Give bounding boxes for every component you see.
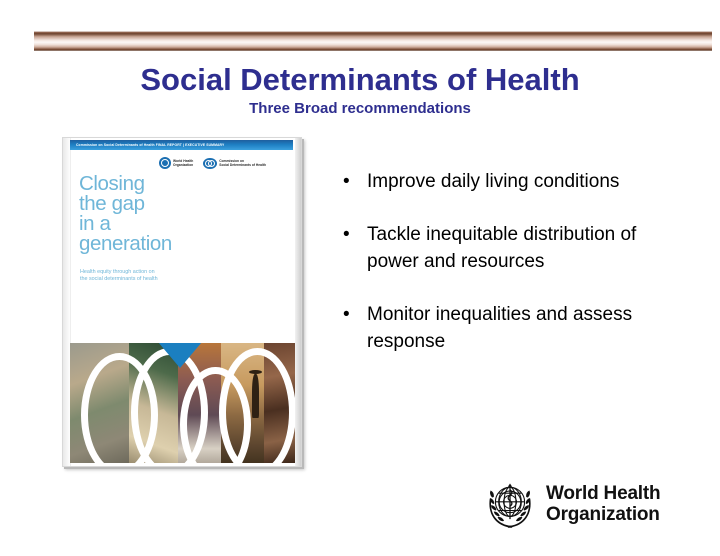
who-emblem-icon [159,157,171,169]
who-footer-logo: World Health Organization [483,477,660,531]
cover-title-line-2: the gap [79,194,172,214]
bullet-marker-icon: • [343,168,367,195]
cover-title-line-4: generation [79,234,172,254]
recommendation-text-3: Monitor inequalities and assess response [367,301,673,355]
cover-logos: World Health Organization Commission on … [159,157,266,169]
cover-title-line-3: in a [79,214,172,234]
cover-subtitle-line-1: Health equity through action on [80,269,158,276]
cover-subtitle: Health equity through action on the soci… [80,269,158,284]
list-item: • Improve daily living conditions [343,168,673,195]
collage-ring-4 [219,348,296,463]
cover-who-logo-text: World Health Organization [173,159,193,168]
bullet-marker-icon: • [343,221,367,248]
cover-csdh-logo-text: Commission on Social Determinants of Hea… [219,159,266,168]
recommendations-list: • Improve daily living conditions • Tack… [343,168,673,381]
decorative-bar [30,31,712,51]
cover-banner-text: Commission on Social Determinants of Hea… [76,141,224,149]
blue-fan-shape [158,343,202,368]
cover-title-line-1: Closing [79,174,172,194]
decorative-bar-cap [30,31,34,51]
bullet-marker-icon: • [343,301,367,328]
page-title: Social Determinants of Health [0,62,720,98]
recommendation-text-1: Improve daily living conditions [367,168,619,195]
cover-who-logo: World Health Organization [159,157,193,169]
page-subtitle: Three Broad recommendations [0,100,720,117]
list-item: • Tackle inequitable distribution of pow… [343,221,673,275]
who-footer-line-2: Organization [546,504,660,525]
report-cover-image: Commission on Social Determinants of Hea… [62,137,302,467]
cover-photo-collage [70,343,295,463]
who-emblem-icon [483,477,537,531]
who-footer-text: World Health Organization [546,483,660,525]
slide-canvas: Social Determinants of Health Three Broa… [0,0,720,556]
book-right-edge [295,138,301,466]
cover-who-logo-line1: World Health [173,159,193,163]
recommendation-text-2: Tackle inequitable distribution of power… [367,221,673,275]
cover-csdh-logo: Commission on Social Determinants of Hea… [203,158,266,169]
list-item: • Monitor inequalities and assess respon… [343,301,673,355]
cover-csdh-logo-line1: Commission on [219,159,244,163]
cover-who-logo-line2: Organization [173,163,193,167]
cover-csdh-logo-line2: Social Determinants of Health [219,163,266,167]
cover-title: Closing the gap in a generation [79,174,172,254]
who-footer-line-1: World Health [546,483,660,504]
cover-banner: Commission on Social Determinants of Hea… [70,140,293,150]
cover-subtitle-line-2: the social determinants of health [80,276,158,283]
csdh-emblem-icon [203,158,217,169]
